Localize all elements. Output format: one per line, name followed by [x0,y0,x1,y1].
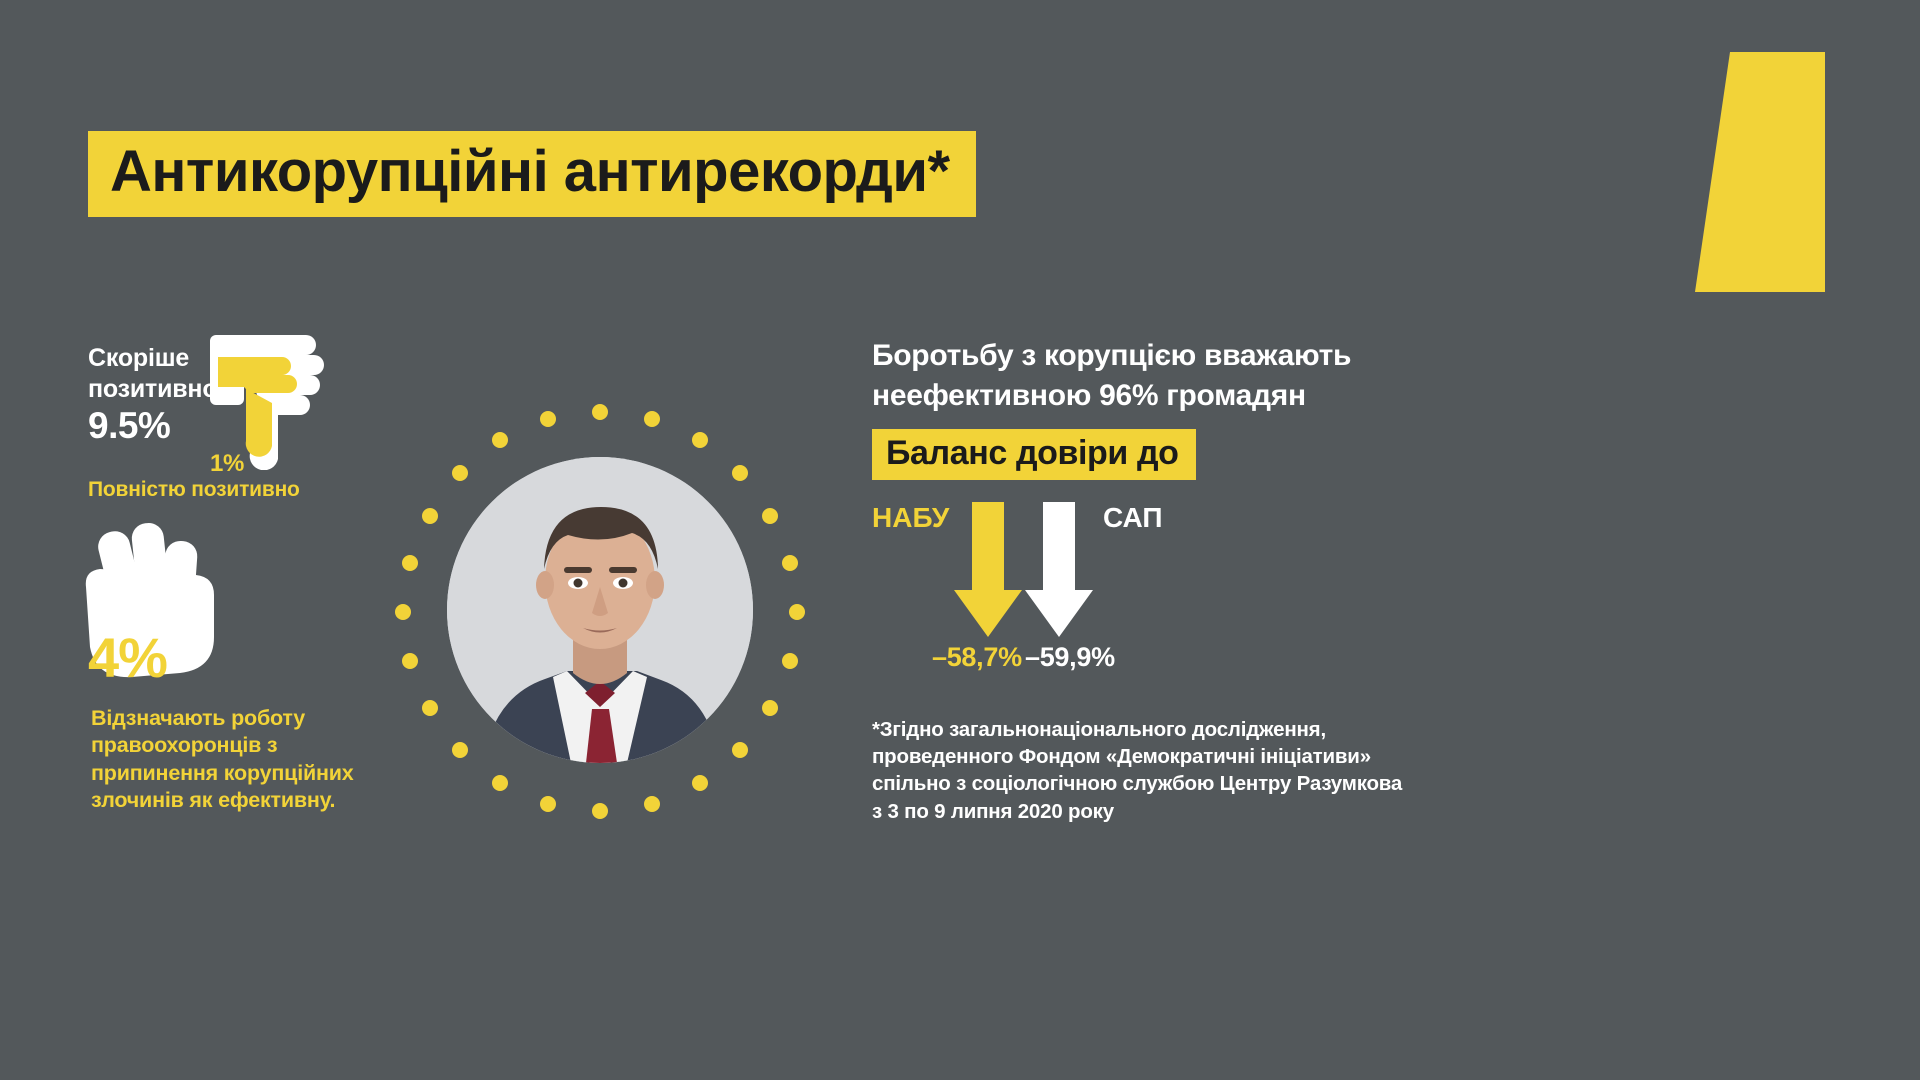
effectiveness-desc-line4: злочинів як ефективну. [91,787,381,814]
effectiveness-value: 4% [88,630,167,686]
corner-wedge-decoration [1695,52,1825,292]
agency-sap: САП –59,9% [1025,502,1225,702]
effectiveness-description: Відзначають роботу правоохоронців з прип… [91,705,381,814]
footnote-line4: з 3 по 9 липня 2020 року [872,798,1632,825]
sentiment-label-line2: позитивно [88,374,318,405]
sentiment-value: 9.5% [88,407,318,446]
effectiveness-desc-line2: правоохоронців з [91,732,381,759]
avatar [447,457,753,763]
balance-banner-label: Баланс довіри до [886,436,1179,470]
sentiment-labels: Скоріше позитивно 9.5% [88,343,318,445]
right-headline: Боротьбу з корупцією вважають неефективн… [872,336,1632,416]
infographic-canvas: Антикорупційні антирекорди* Скоріше поз [0,0,1920,1080]
agency-nabu-label: НАБУ [872,504,949,532]
footnote: *Згідно загальнонаціонального дослідженн… [872,716,1632,825]
arrow-down-icon [1025,502,1093,637]
sentiment-label-line1: Скоріше [88,343,318,374]
sentiment-secondary-label: Повністю позитивно [88,478,300,502]
effectiveness-desc-line3: припинення корупційних [91,760,381,787]
effectiveness-desc-line1: Відзначають роботу [91,705,381,732]
footnote-line3: спільно з соціологічною службою Центру Р… [872,770,1632,797]
agency-sap-label: САП [1103,504,1163,532]
footnote-line1: *Згідно загальнонаціонального дослідженн… [872,716,1632,743]
sentiment-stat-block: Скоріше позитивно 9.5% 1% Повністю позит… [0,330,430,530]
effectiveness-stat-block: 4% Відзначають роботу правоохоронців з п… [0,515,430,995]
sentiment-secondary-value: 1% [210,450,244,478]
agency-sap-value: –59,9% [1025,642,1115,673]
portrait-container [390,400,810,820]
balance-banner: Баланс довіри до [872,429,1196,480]
left-statistics-column: Скоріше позитивно 9.5% 1% Повністю позит… [0,330,430,990]
right-content-column: Боротьбу з корупцією вважають неефективн… [872,336,1632,825]
agency-trust-group: НАБУ –58,7% САП –59,9% [872,502,1292,702]
right-headline-line2: неефективною 96% громадян [872,376,1632,416]
arrow-down-icon [954,502,1022,637]
page-title: Антикорупційні антирекорди* [110,143,950,201]
agency-nabu-value: –58,7% [932,642,1022,673]
right-headline-line1: Боротьбу з корупцією вважають [872,336,1632,376]
footnote-line2: проведенного Фондом «Демократичні ініціа… [872,743,1632,770]
title-banner: Антикорупційні антирекорди* [88,131,976,217]
